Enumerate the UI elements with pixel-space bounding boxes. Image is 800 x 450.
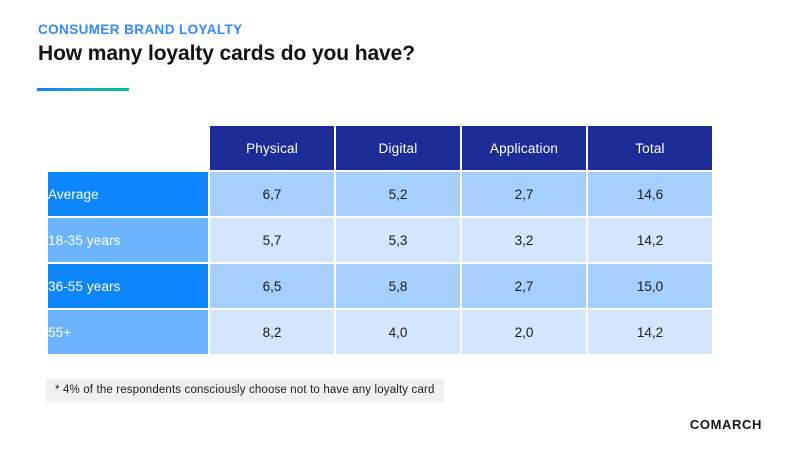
cell-18-35-total: 14,2 (588, 218, 712, 262)
row-label-55-plus: 55+ (48, 310, 208, 354)
table-row: 36-55 years 6,5 5,8 2,7 15,0 (48, 264, 712, 308)
column-header-total: Total (588, 126, 712, 170)
page-title: How many loyalty cards do you have? (38, 41, 758, 67)
table-row: Average 6,7 5,2 2,7 14,6 (48, 172, 712, 216)
cell-average-application: 2,7 (462, 172, 586, 216)
table-header: Physical Digital Application Total (48, 126, 712, 170)
cell-36-55-physical: 6,5 (210, 264, 334, 308)
cell-55plus-application: 2,0 (462, 310, 586, 354)
cell-36-55-application: 2,7 (462, 264, 586, 308)
cell-average-total: 14,6 (588, 172, 712, 216)
footnote-text: * 4% of the respondents consciously choo… (46, 379, 444, 402)
cell-55plus-digital: 4,0 (336, 310, 460, 354)
table-row: 55+ 8,2 4,0 2,0 14,2 (48, 310, 712, 354)
column-header-physical: Physical (210, 126, 334, 170)
row-label-36-55-years: 36-55 years (48, 264, 208, 308)
cell-average-physical: 6,7 (210, 172, 334, 216)
table-header-row: Physical Digital Application Total (48, 126, 712, 170)
comarch-logo: COMARCH (690, 417, 762, 432)
loyalty-cards-table: Physical Digital Application Total Avera… (46, 124, 714, 356)
cell-36-55-digital: 5,8 (336, 264, 460, 308)
accent-rule-divider (37, 88, 129, 91)
table-corner-cell (48, 126, 208, 170)
cell-55plus-total: 14,2 (588, 310, 712, 354)
cell-average-digital: 5,2 (336, 172, 460, 216)
column-header-application: Application (462, 126, 586, 170)
row-label-18-35-years: 18-35 years (48, 218, 208, 262)
cell-36-55-total: 15,0 (588, 264, 712, 308)
table-body: Average 6,7 5,2 2,7 14,6 18-35 years 5,7… (48, 172, 712, 354)
cell-18-35-digital: 5,3 (336, 218, 460, 262)
eyebrow-label: CONSUMER BRAND LOYALTY (38, 22, 758, 38)
cell-18-35-application: 3,2 (462, 218, 586, 262)
row-label-average: Average (48, 172, 208, 216)
cell-18-35-physical: 5,7 (210, 218, 334, 262)
slide-header: CONSUMER BRAND LOYALTY How many loyalty … (38, 22, 758, 67)
cell-55plus-physical: 8,2 (210, 310, 334, 354)
table-row: 18-35 years 5,7 5,3 3,2 14,2 (48, 218, 712, 262)
column-header-digital: Digital (336, 126, 460, 170)
